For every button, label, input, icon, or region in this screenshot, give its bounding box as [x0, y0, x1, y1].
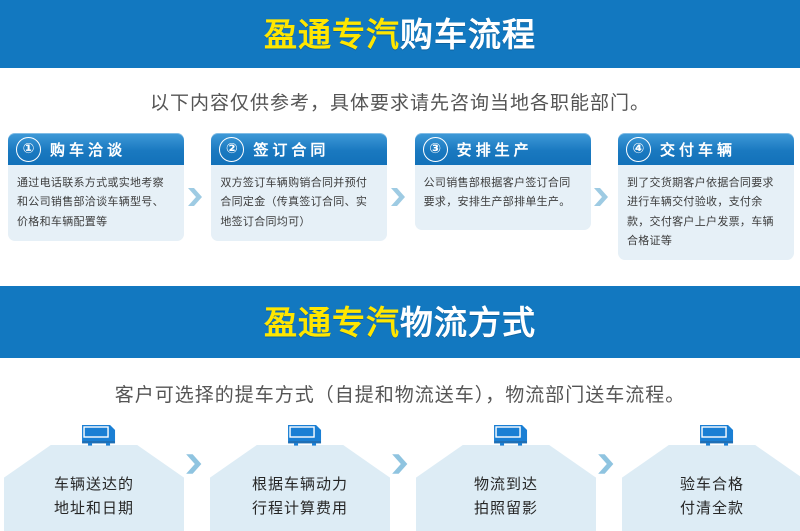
- logistics-steps-row: 车辆送达的 地址和日期: [0, 423, 800, 531]
- step-number-badge-1: ①: [16, 137, 41, 162]
- logistics-shape-4: 验车合格 付清全款: [622, 445, 800, 531]
- step-header-4: ④ 交付车辆: [618, 133, 794, 165]
- step-number-badge-3: ③: [423, 137, 448, 162]
- banner-title-purchase: 盈通专汽购车流程: [264, 18, 536, 51]
- step-card-2[interactable]: ② 签订合同 双方签订车辆购销合同并预付合同定金（传真签订合同、实地签订合同均可…: [211, 133, 387, 241]
- logistics-card-1[interactable]: 车辆送达的 地址和日期: [4, 423, 184, 531]
- step-title-2: 签订合同: [253, 139, 329, 160]
- logistics-arrow-2: [390, 423, 416, 531]
- purchase-steps-row: ① 购车洽谈 通过电话联系方式或实地考察和公司销售部洽谈车辆型号、价格和车辆配置…: [0, 133, 800, 260]
- step-body-3: 公司销售部根据客户签订合同要求，安排生产部排单生产。: [415, 164, 591, 230]
- logistics-shape-1: 车辆送达的 地址和日期: [4, 445, 184, 531]
- logistics-label-line1: 物流到达: [474, 472, 538, 496]
- step-body-1: 通过电话联系方式或实地考察和公司销售部洽谈车辆型号、价格和车辆配置等: [8, 164, 184, 241]
- chevron-right-icon: [597, 451, 621, 481]
- logistics-card-3[interactable]: 物流到达 拍照留影: [416, 423, 596, 531]
- banner-rest-text: 购车流程: [400, 15, 536, 54]
- step-arrow-3: [592, 133, 616, 213]
- logistics-label-line1: 车辆送达的: [54, 472, 134, 496]
- section-banner-purchase: 盈通专汽购车流程: [0, 0, 800, 68]
- logistics-label-2: 根据车辆动力 行程计算费用: [252, 472, 348, 520]
- step-header-1: ① 购车洽谈: [8, 133, 184, 165]
- logistics-label-line1: 验车合格: [680, 472, 744, 496]
- logistics-label-line2: 行程计算费用: [252, 496, 348, 520]
- logistics-arrow-1: [184, 423, 210, 531]
- logistics-label-line2: 拍照留影: [474, 496, 538, 520]
- truck-icon: [78, 423, 120, 451]
- step-arrow-1: [186, 133, 210, 213]
- logistics-card-4[interactable]: 验车合格 付清全款: [622, 423, 800, 531]
- step-body-2: 双方签订车辆购销合同并预付合同定金（传真签订合同、实地签订合同均可）: [211, 164, 387, 241]
- logistics-label-3: 物流到达 拍照留影: [474, 472, 538, 520]
- promo-page: 盈通专汽购车流程 以下内容仅供参考，具体要求请先咨询当地各职能部门。 ① 购车洽…: [0, 0, 800, 531]
- logistics-label-1: 车辆送达的 地址和日期: [54, 472, 134, 520]
- truck-icon: [284, 423, 326, 451]
- logistics-card-2[interactable]: 根据车辆动力 行程计算费用: [210, 423, 390, 531]
- step-number-badge-4: ④: [626, 137, 651, 162]
- chevron-right-icon: [391, 451, 415, 481]
- step-card-3[interactable]: ③ 安排生产 公司销售部根据客户签订合同要求，安排生产部排单生产。: [415, 133, 591, 230]
- logistics-shape-3: 物流到达 拍照留影: [416, 445, 596, 531]
- chevron-right-icon: [187, 185, 209, 213]
- step-title-3: 安排生产: [457, 139, 533, 160]
- step-card-1[interactable]: ① 购车洽谈 通过电话联系方式或实地考察和公司销售部洽谈车辆型号、价格和车辆配置…: [8, 133, 184, 241]
- step-header-2: ② 签订合同: [211, 133, 387, 165]
- chevron-right-icon: [390, 185, 412, 213]
- logistics-label-line2: 付清全款: [680, 496, 744, 520]
- chevron-right-icon: [593, 185, 615, 213]
- step-arrow-2: [389, 133, 413, 213]
- step-card-4[interactable]: ④ 交付车辆 到了交货期客户依据合同要求进行车辆交付验收，支付余款，交付客户上户…: [618, 133, 794, 260]
- logistics-label-line1: 根据车辆动力: [252, 472, 348, 496]
- step-title-1: 购车洽谈: [50, 139, 126, 160]
- step-title-4: 交付车辆: [660, 139, 736, 160]
- logistics-shape-2: 根据车辆动力 行程计算费用: [210, 445, 390, 531]
- banner-brand-text: 盈通专汽: [264, 303, 400, 342]
- section-banner-logistics: 盈通专汽物流方式: [0, 286, 800, 358]
- banner-rest-text: 物流方式: [400, 303, 536, 342]
- truck-icon: [696, 423, 738, 451]
- step-header-3: ③ 安排生产: [415, 133, 591, 165]
- truck-icon: [490, 423, 532, 451]
- logistics-arrow-3: [596, 423, 622, 531]
- subcaption-logistics: 客户可选择的提车方式（自提和物流送车），物流部门送车流程。: [0, 358, 800, 407]
- logistics-label-line2: 地址和日期: [54, 496, 134, 520]
- subcaption-purchase: 以下内容仅供参考，具体要求请先咨询当地各职能部门。: [0, 68, 800, 115]
- chevron-right-icon: [185, 451, 209, 481]
- step-body-4: 到了交货期客户依据合同要求进行车辆交付验收，支付余款，交付客户上户发票，车辆合格…: [618, 164, 794, 260]
- banner-brand-text: 盈通专汽: [264, 15, 400, 54]
- logistics-label-4: 验车合格 付清全款: [680, 472, 744, 520]
- step-number-badge-2: ②: [219, 137, 244, 162]
- banner-title-logistics: 盈通专汽物流方式: [264, 306, 536, 339]
